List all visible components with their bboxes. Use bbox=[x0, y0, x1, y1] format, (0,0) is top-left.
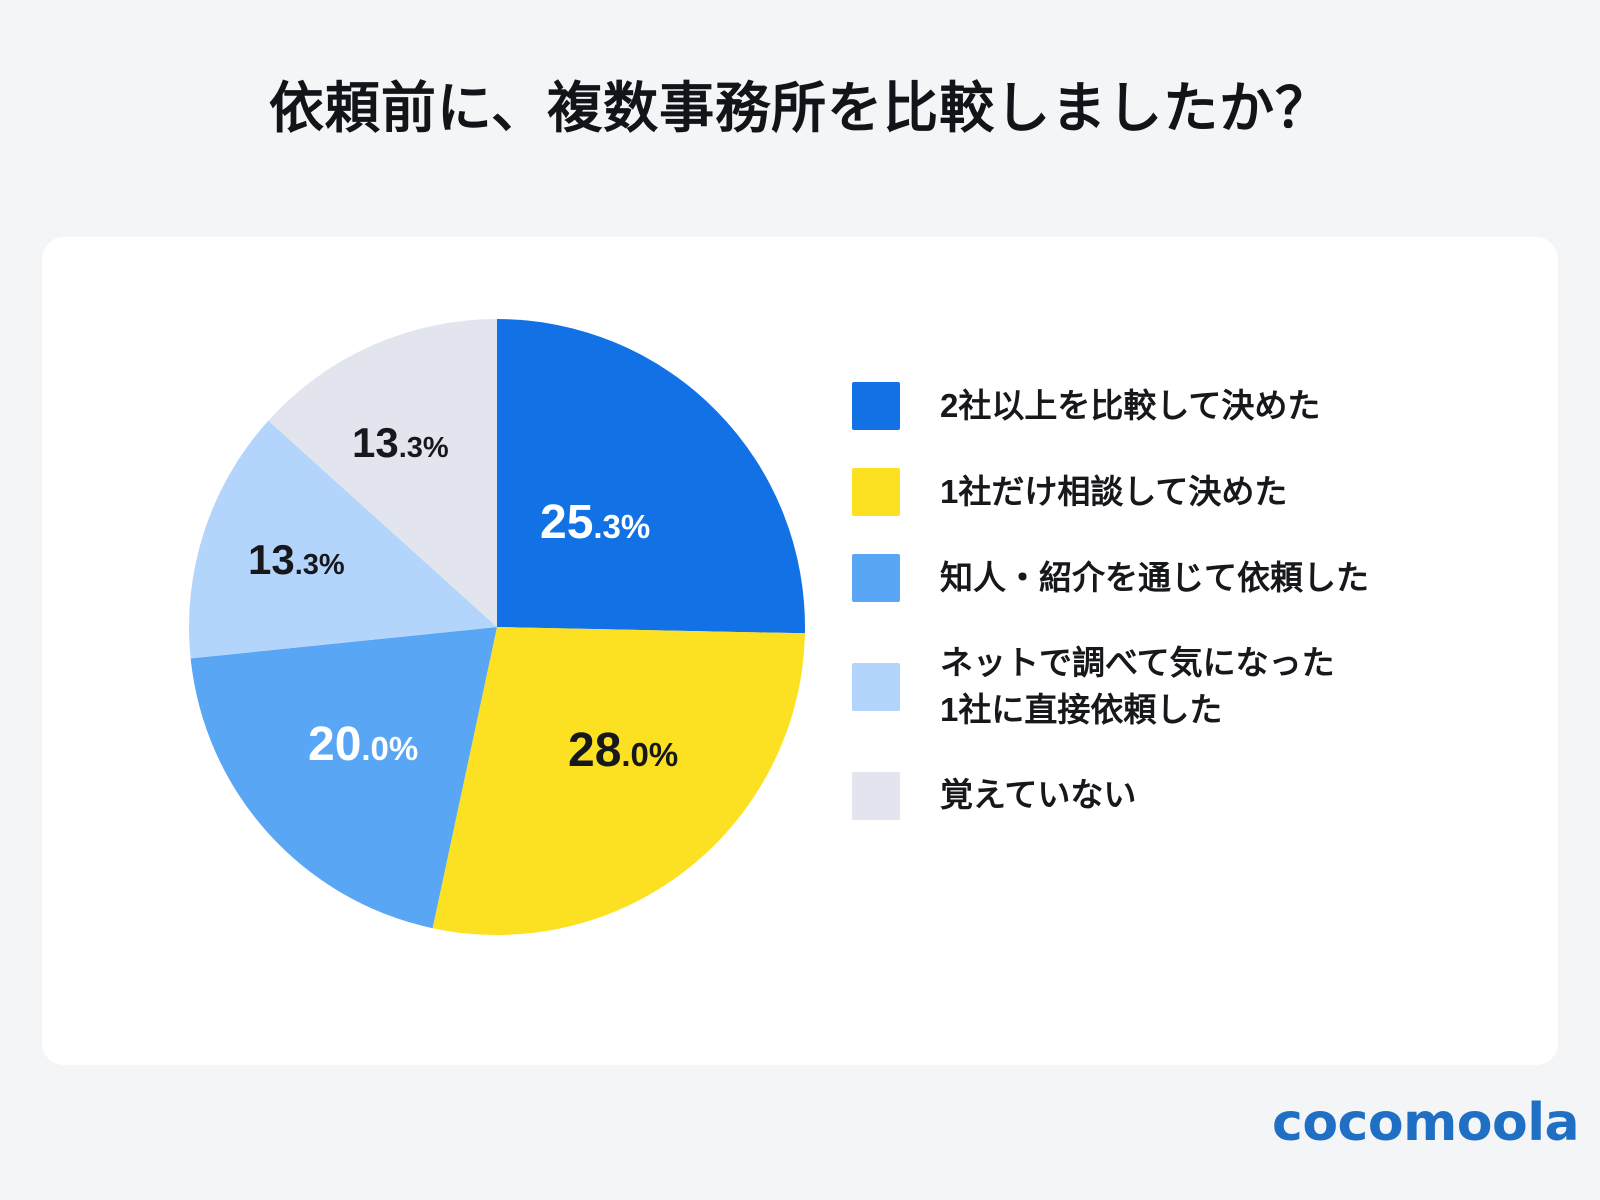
pie-chart: 25.3% 28.0% 20.0% 13.3% 13.3% bbox=[187, 317, 807, 937]
pie-slice-label-1-int: 28 bbox=[568, 724, 621, 777]
legend-item-3[interactable]: ネットで調べて気になった 1社に直接依頼した bbox=[852, 640, 1512, 734]
legend-label-2: 知人・紹介を通じて依頼した bbox=[940, 555, 1369, 602]
legend-swatch-icon-0 bbox=[852, 382, 900, 430]
legend-swatch-icon-2 bbox=[852, 554, 900, 602]
legend-label-1: 1社だけ相談して決めた bbox=[940, 469, 1287, 516]
legend-item-4[interactable]: 覚えていない bbox=[852, 772, 1512, 820]
pie-slice-label-3-dec: .3% bbox=[295, 549, 345, 581]
pie-slice-label-3-int: 13 bbox=[248, 536, 295, 583]
logo-wordmark: cocomoola bbox=[1272, 1097, 1562, 1149]
pie-slice-label-4-dec: .3% bbox=[399, 432, 449, 464]
legend-swatch-icon-4 bbox=[852, 772, 900, 820]
legend-swatch-icon-1 bbox=[852, 468, 900, 516]
legend-item-0[interactable]: 2社以上を比較して決めた bbox=[852, 382, 1512, 430]
page-title: 依頼前に、複数事務所を比較しましたか？ bbox=[269, 75, 1331, 141]
cocomoola-logo[interactable]: cocomoola bbox=[1272, 1097, 1562, 1159]
pie-slice-label-4: 13.3% bbox=[352, 422, 449, 464]
pie-slice-label-1: 28.0% bbox=[568, 727, 678, 775]
pie-slice-label-1-dec: .0% bbox=[621, 736, 678, 773]
legend-item-1[interactable]: 1社だけ相談して決めた bbox=[852, 468, 1512, 516]
chart-card: 25.3% 28.0% 20.0% 13.3% 13.3% 2社以上を比較して決… bbox=[42, 237, 1558, 1065]
legend-label-0: 2社以上を比較して決めた bbox=[940, 383, 1320, 430]
title-bar: 依頼前に、複数事務所を比較しましたか？ bbox=[0, 0, 1600, 215]
legend-label-3: ネットで調べて気になった 1社に直接依頼した bbox=[940, 640, 1335, 734]
pie-slice-label-0-dec: .3% bbox=[593, 508, 650, 545]
legend-label-4: 覚えていない bbox=[940, 772, 1136, 819]
chart-legend: 2社以上を比較して決めた 1社だけ相談して決めた 知人・紹介を通じて依頼した ネ… bbox=[852, 382, 1512, 820]
pie-slice-label-0: 25.3% bbox=[540, 499, 650, 547]
page-root: 依頼前に、複数事務所を比較しましたか？ 25.3% 28.0% 20.0% 13… bbox=[0, 0, 1600, 1200]
pie-slice-label-2-int: 20 bbox=[308, 718, 361, 771]
legend-item-2[interactable]: 知人・紹介を通じて依頼した bbox=[852, 554, 1512, 602]
pie-slice-label-2-dec: .0% bbox=[361, 730, 418, 767]
pie-slice-0[interactable] bbox=[497, 319, 805, 633]
pie-slice-1[interactable] bbox=[433, 627, 805, 935]
legend-swatch-icon-3 bbox=[852, 663, 900, 711]
pie-chart-svg bbox=[187, 317, 807, 937]
pie-slice-label-2: 20.0% bbox=[308, 721, 418, 769]
pie-slice-label-0-int: 25 bbox=[540, 496, 593, 549]
pie-slice-label-4-int: 13 bbox=[352, 419, 399, 466]
pie-slice-label-3: 13.3% bbox=[248, 539, 345, 581]
